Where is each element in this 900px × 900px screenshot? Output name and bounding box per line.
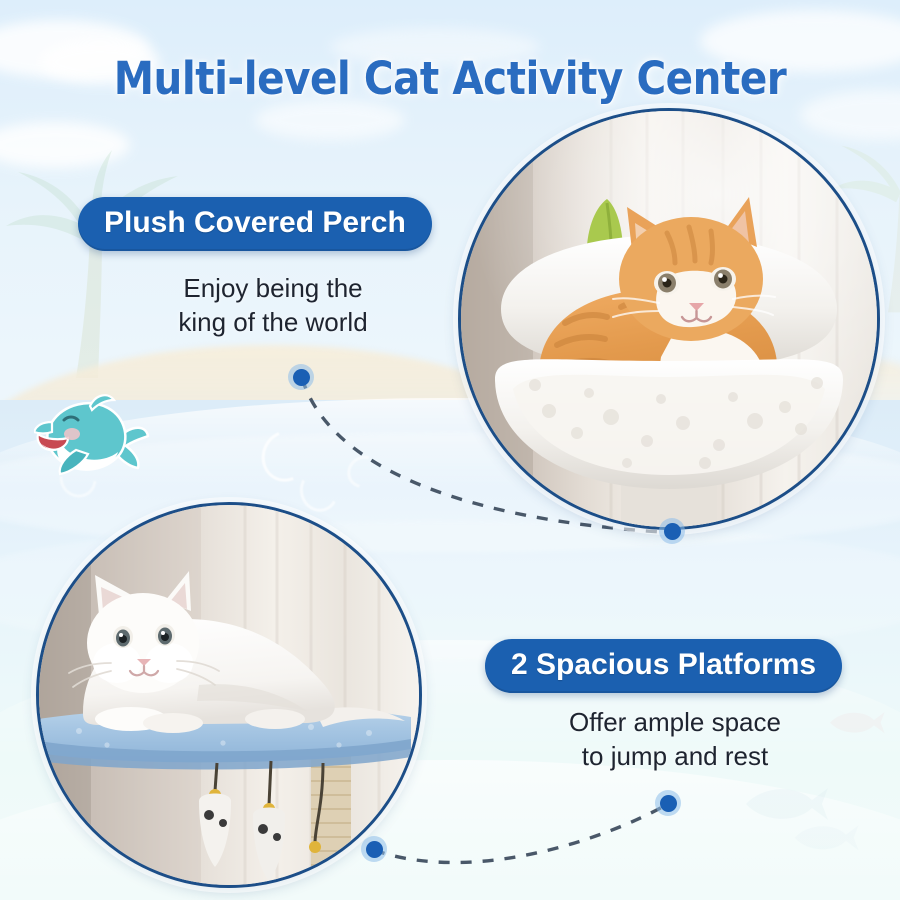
caption-line: to jump and rest	[485, 740, 865, 774]
page-title: Multi-level Cat Activity Center	[0, 52, 900, 105]
connector-dot-core	[660, 795, 677, 812]
caption-line: Offer ample space	[485, 706, 865, 740]
photo-white-cat-on-platform[interactable]	[36, 502, 422, 888]
connector-dot-platforms-end	[655, 790, 681, 816]
white-cat-photo-illustration	[39, 505, 419, 885]
feature-caption-2-spacious-platforms: Offer ample space to jump and rest	[485, 706, 865, 774]
photo-kitten-in-plush-perch[interactable]	[458, 108, 880, 530]
feature-label-2-spacious-platforms[interactable]: 2 Spacious Platforms	[485, 639, 842, 693]
connector-dot-core	[664, 523, 681, 540]
dolphin-icon	[34, 392, 150, 483]
caption-line: Enjoy being the	[78, 272, 468, 306]
infographic-canvas: Multi-level Cat Activity Center Plush Co…	[0, 0, 900, 900]
cloud-shape	[255, 100, 405, 140]
caption-line: king of the world	[78, 306, 468, 340]
connector-dot-perch-start	[288, 364, 314, 390]
feature-caption-plush-covered-perch: Enjoy being the king of the world	[78, 272, 468, 340]
connector-dot-perch-end	[659, 518, 685, 544]
fish-icon	[790, 818, 860, 861]
connector-dot-platforms-start	[361, 836, 387, 862]
connector-dot-core	[366, 841, 383, 858]
feature-label-plush-covered-perch[interactable]: Plush Covered Perch	[78, 197, 432, 251]
connector-dot-core	[293, 369, 310, 386]
kitten-photo-illustration	[461, 111, 877, 527]
